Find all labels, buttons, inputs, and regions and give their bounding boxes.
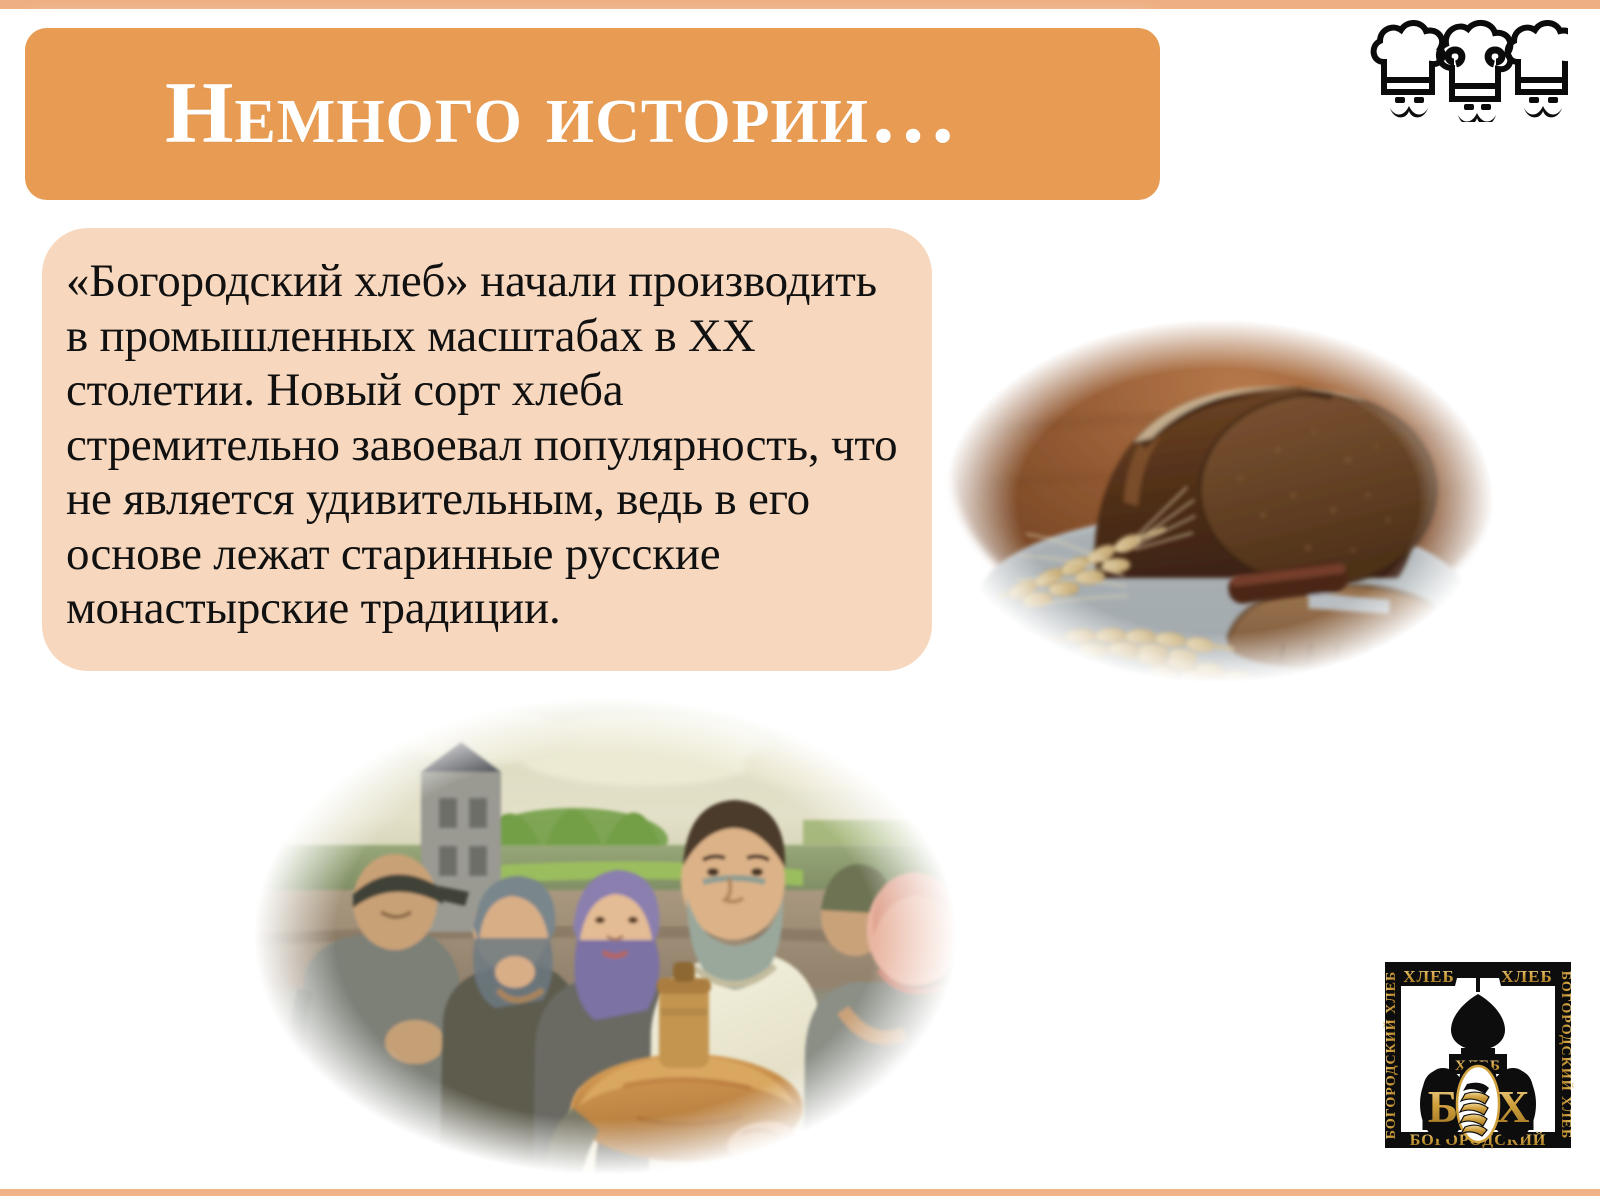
painting-photo bbox=[243, 690, 968, 1182]
bottom-accent-strip bbox=[0, 1189, 1600, 1196]
logo-left-text: БОГОРОДСКИЙ ХЛЕБ bbox=[1382, 971, 1399, 1139]
body-text: «Богородский хлеб» начали производить в … bbox=[66, 254, 898, 636]
logo-monogram-left: Б bbox=[1428, 1081, 1458, 1132]
page-title: Немного истории… bbox=[165, 70, 958, 158]
bread-photo bbox=[928, 310, 1508, 692]
top-accent-strip bbox=[0, 0, 1600, 9]
slide-root: Немного истории… bbox=[0, 0, 1600, 1200]
logo-top-right-text: ХЛЕБ bbox=[1501, 967, 1553, 986]
bogorodsky-hleb-logo: ХЛЕБ ХЛЕБ БОГОРОДСКИЙ ХЛЕБ БОГОРОДСКИЙ Х… bbox=[1375, 952, 1581, 1158]
logo-right-text: БОГОРОДСКИЙ ХЛЕБ bbox=[1558, 971, 1575, 1139]
logo-monogram-right: Х bbox=[1496, 1081, 1529, 1132]
title-bar: Немного истории… bbox=[25, 28, 1160, 200]
body-text-card: «Богородский хлеб» начали производить в … bbox=[42, 228, 932, 671]
chef-hats-icon bbox=[1368, 18, 1568, 122]
logo-top-left-text: ХЛЕБ bbox=[1403, 967, 1455, 986]
